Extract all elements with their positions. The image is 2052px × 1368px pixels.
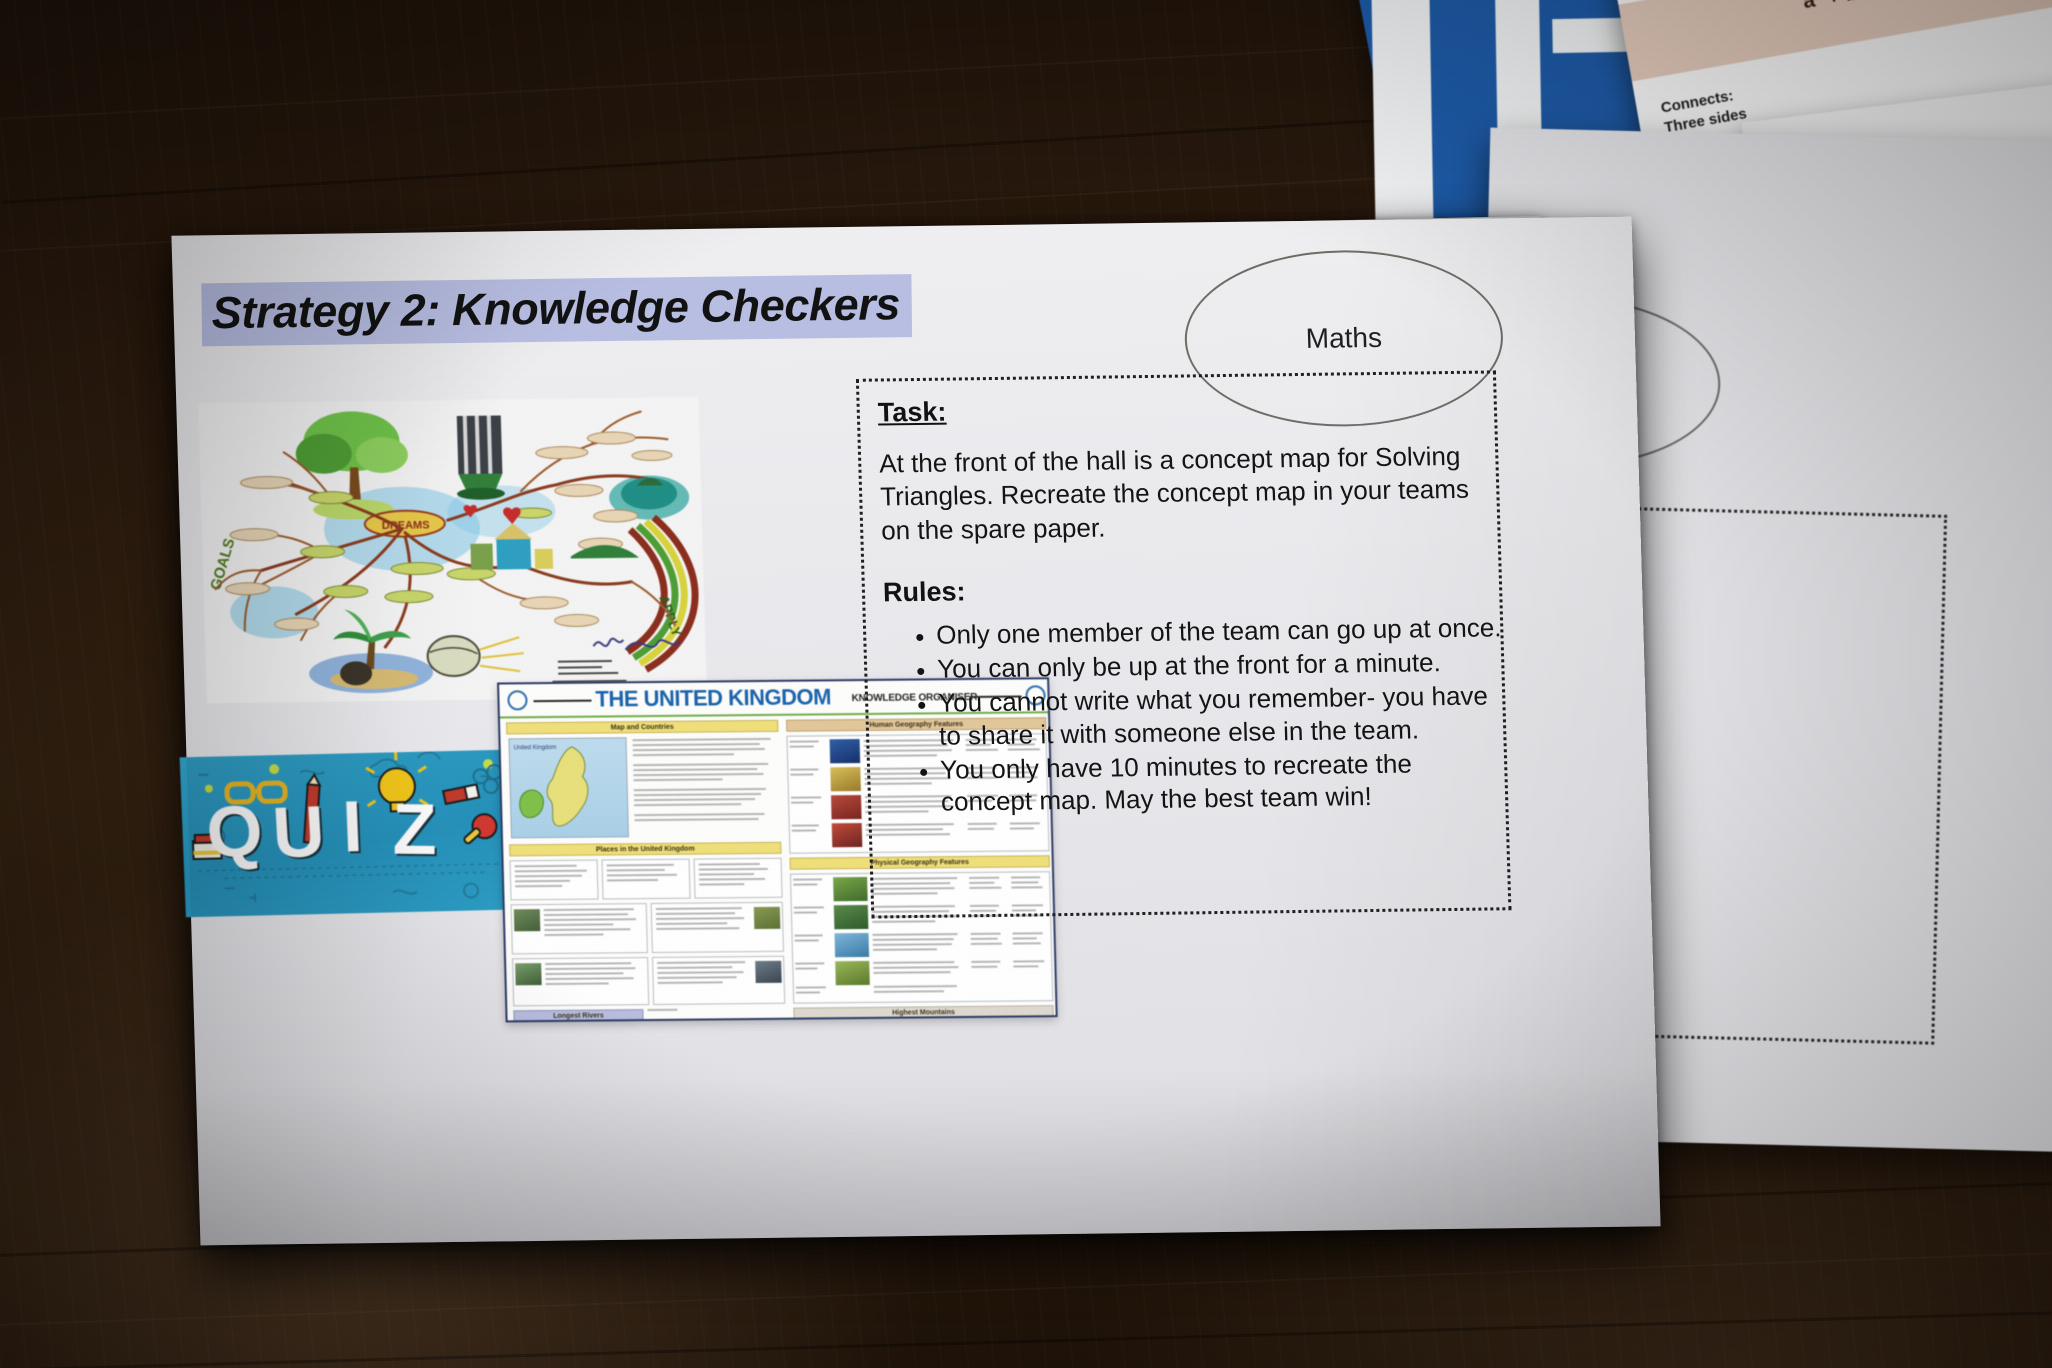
mountains-illustration [794, 1019, 1055, 1022]
quiz-letter: I [341, 791, 362, 863]
uk-table-cell [602, 859, 691, 900]
rule-item: You only have 10 minutes to recreate the… [940, 746, 1508, 818]
uk-map-image: United Kingdom [508, 737, 629, 838]
worksheet-page: Strategy 2: Knowledge Checkers Maths [171, 217, 1660, 1246]
uk-table-cell [510, 860, 599, 901]
quiz-word: Q U I Z [199, 790, 502, 877]
uk-table-cell [652, 956, 785, 1005]
rules-list: Only one member of the team can go up at… [892, 611, 1508, 820]
uk-map-illustration: United Kingdom [509, 738, 630, 839]
uk-section-header: Longest Rivers [513, 1009, 643, 1022]
photo-scene: Conne PYTHAGORAS' a² + b² = c² Connects:… [0, 0, 2052, 1368]
uk-table-cell [511, 903, 648, 954]
pythagoras-connects: Connects: Three sides [1659, 84, 1748, 138]
quiz-letter: U [271, 796, 325, 870]
rules-heading: Rules: [883, 576, 966, 608]
uk-table-cell [512, 957, 649, 1006]
uk-table-cell [694, 858, 783, 899]
task-heading: Task: [877, 397, 946, 429]
quiz-letter: Q [204, 795, 263, 870]
svg-text:United Kingdom: United Kingdom [514, 745, 557, 751]
uk-river-labels [647, 1008, 785, 1023]
mind-map-image: APPLY GOALS DREAMS [198, 397, 707, 703]
quiz-letter: Z [392, 794, 434, 866]
quiz-banner-image: Q U I Z [180, 750, 516, 918]
task-body: At the front of the hall is a concept ma… [879, 440, 1482, 548]
uk-header-rule [533, 700, 591, 703]
uk-section-header: Map and Countries [506, 720, 778, 735]
title-row: Strategy 2: Knowledge Checkers [201, 274, 913, 346]
uk-section-header: Places in the United Kingdom [509, 842, 781, 857]
uk-title: THE UNITED KINGDOM [595, 684, 831, 712]
uk-text-block [633, 738, 779, 824]
uk-table-cell [651, 902, 784, 953]
globe-icon [507, 690, 528, 710]
subject-label: Maths [1305, 322, 1382, 355]
rule-item: You can only be up at the front for a mi… [937, 646, 1504, 686]
rule-item: You cannot write what you remember- you … [938, 680, 1506, 752]
task-rules-box: Task: At the front of the hall is a conc… [856, 370, 1512, 918]
rule-item: Only one member of the team can go up at… [936, 611, 1503, 651]
mind-map-illustration: APPLY GOALS DREAMS [198, 397, 707, 703]
uk-section-header: Highest Mountains [793, 1005, 1053, 1019]
page-title: Strategy 2: Knowledge Checkers [201, 274, 912, 346]
